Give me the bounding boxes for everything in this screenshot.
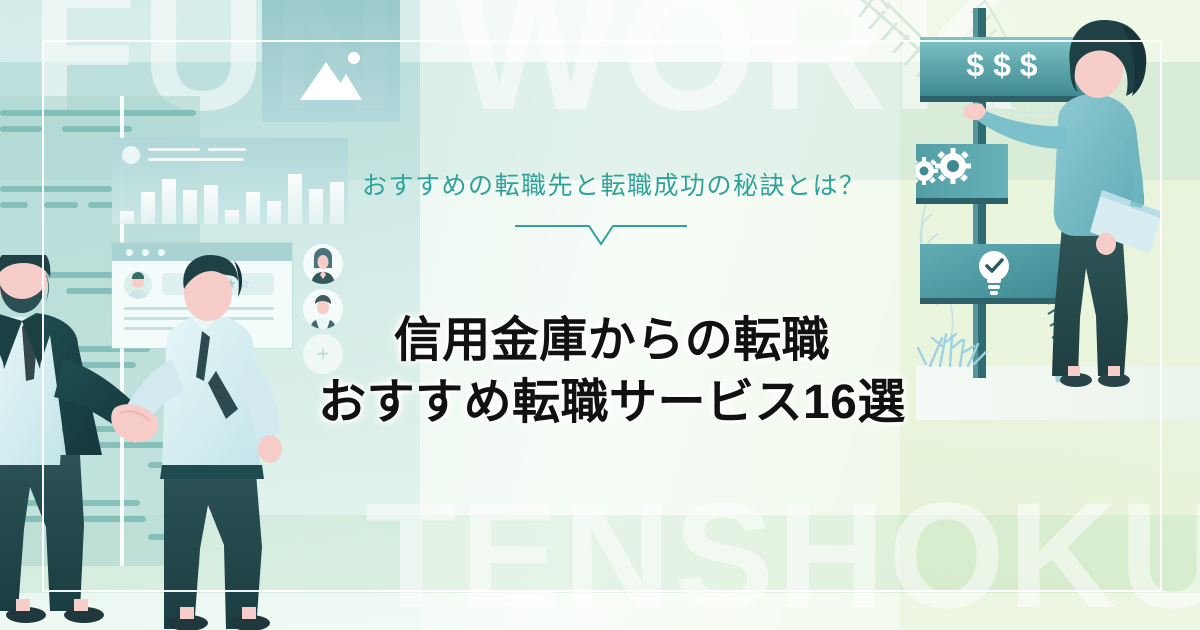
page-title: 信用金庫からの転職 おすすめ転職サービス16選 (292, 310, 932, 433)
subtitle: おすすめの転職先と転職成功の秘訣とは？ (362, 166, 866, 202)
title-line-1: 信用金庫からの転職 (394, 314, 830, 367)
document-line (0, 126, 42, 132)
document-line (0, 202, 28, 208)
title-line-2: おすすめ転職サービス16選 (292, 372, 932, 433)
subtitle-divider (515, 222, 687, 248)
hero-banner: FUN WORK TENSHOKU ★★★★☆ (0, 0, 1200, 630)
